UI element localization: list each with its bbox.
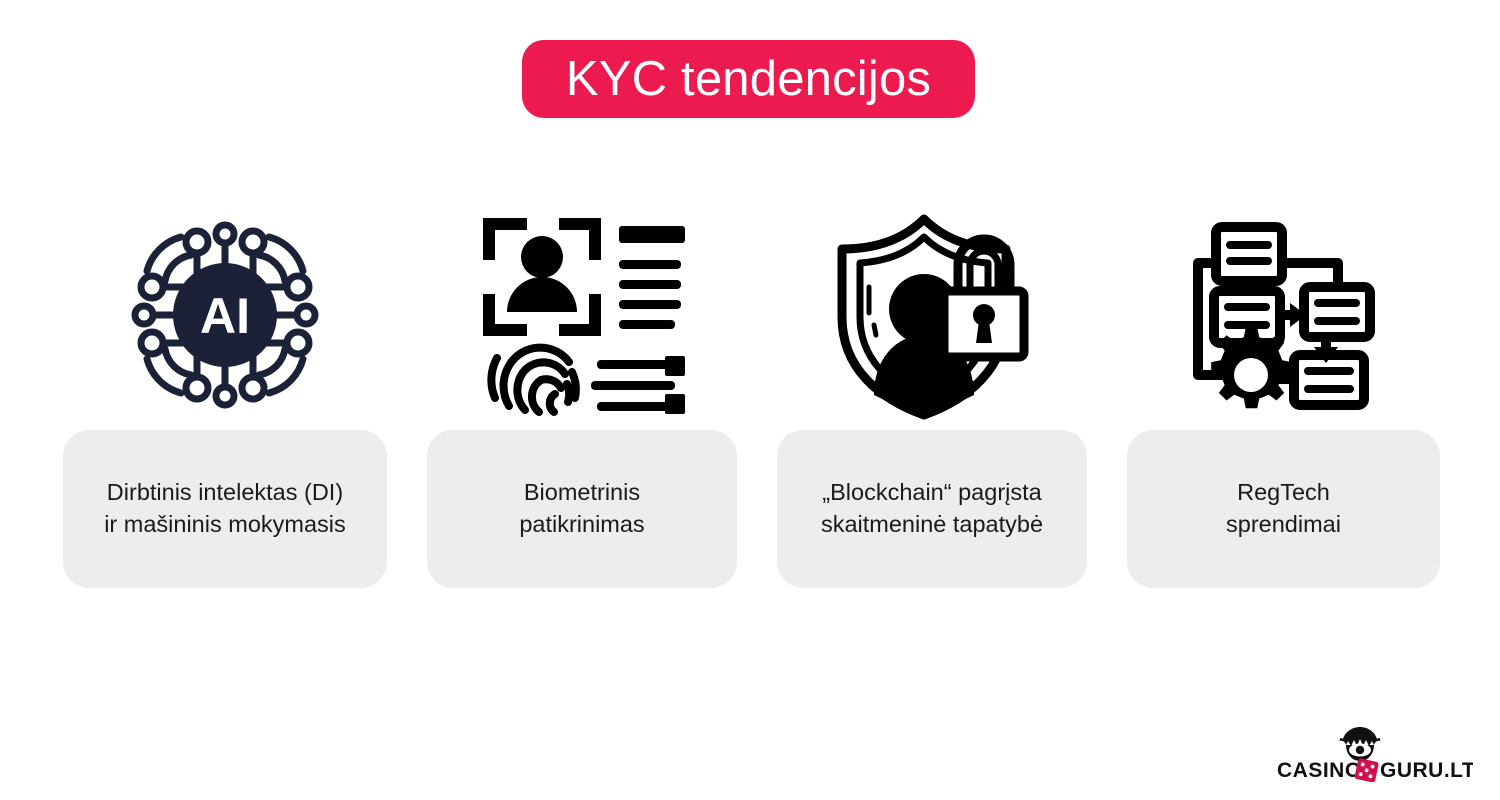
trend-label-regtech: RegTech sprendimai (1226, 477, 1341, 541)
svg-text:AI: AI (200, 288, 250, 344)
casinoguru-logo: CASINO GURU.LT (1277, 727, 1473, 785)
trend-label-blockchain: „Blockchain“ pagrįsta skaitmeninė tapaty… (821, 477, 1043, 541)
trend-label-ai: Dirbtinis intelektas (DI) ir mašininis m… (104, 477, 346, 541)
trend-label-box-blockchain: „Blockchain“ pagrįsta skaitmeninė tapaty… (777, 430, 1087, 588)
trend-column-regtech: RegTech sprendimai (1127, 200, 1440, 588)
trend-column-blockchain: „Blockchain“ pagrįsta skaitmeninė tapaty… (777, 200, 1087, 588)
trend-columns: AI (0, 0, 1500, 800)
trend-column-biometric: Biometrinis patikrinimas (427, 200, 737, 588)
trend-label-biometric: Biometrinis patikrinimas (519, 477, 644, 541)
svg-text:CASINO: CASINO (1277, 759, 1362, 782)
ai-chip-icon: AI (63, 200, 387, 430)
trend-column-ai: AI (63, 200, 387, 588)
shield-user-lock-icon (777, 200, 1087, 430)
regtech-workflow-gear-icon (1127, 200, 1440, 430)
biometric-id-scan-icon (427, 200, 737, 430)
trend-label-box-regtech: RegTech sprendimai (1127, 430, 1440, 588)
casinoguru-wordmark: CASINO GURU.LT (1277, 758, 1473, 782)
trend-label-box-ai: Dirbtinis intelektas (DI) ir mašininis m… (63, 430, 387, 588)
trend-label-box-biometric: Biometrinis patikrinimas (427, 430, 737, 588)
svg-text:GURU.LT: GURU.LT (1380, 759, 1473, 782)
